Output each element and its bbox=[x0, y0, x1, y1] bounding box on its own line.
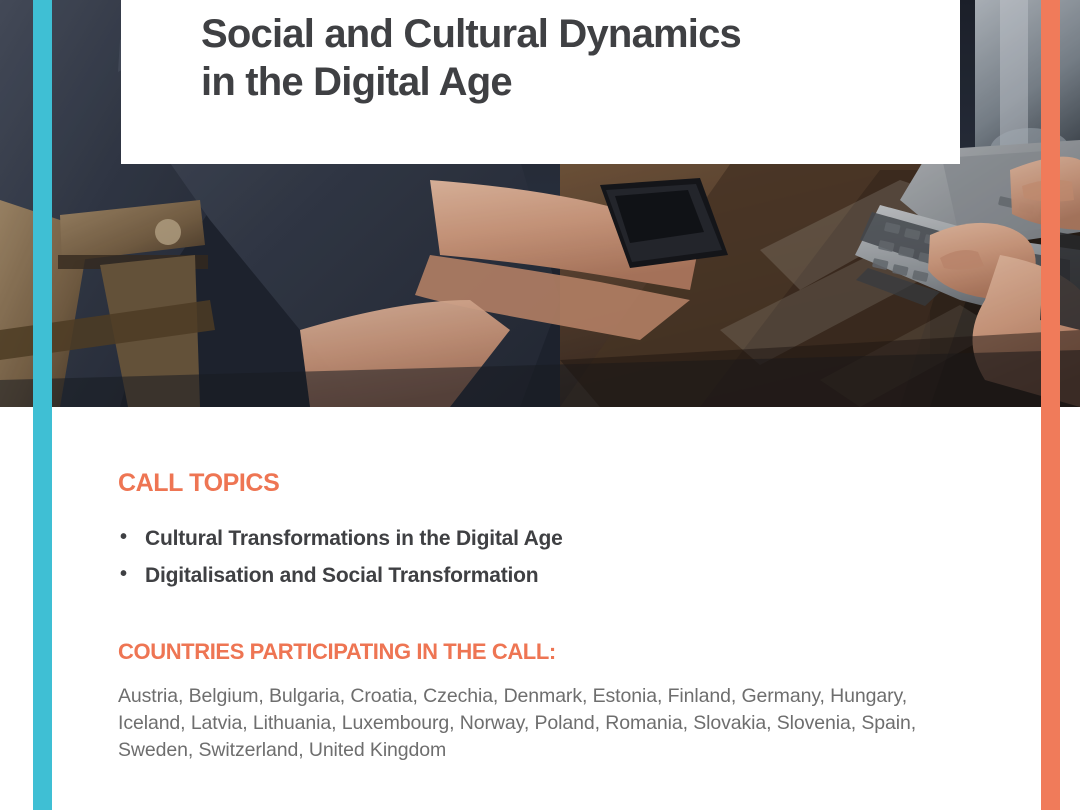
title-card: Social and Cultural Dynamics in the Digi… bbox=[121, 0, 960, 164]
content-area: CALL TOPICS Cultural Transformations in … bbox=[118, 407, 998, 810]
call-topics-heading: CALL TOPICS bbox=[118, 469, 998, 498]
list-item: Cultural Transformations in the Digital … bbox=[118, 520, 998, 557]
poster-page: Social and Cultural Dynamics in the Digi… bbox=[0, 0, 1080, 810]
countries-list: Austria, Belgium, Bulgaria, Croatia, Cze… bbox=[118, 683, 966, 764]
call-topics-list: Cultural Transformations in the Digital … bbox=[118, 520, 998, 594]
right-accent-bar bbox=[1041, 0, 1060, 810]
page-title-line-1: Social and Cultural Dynamics bbox=[201, 12, 741, 56]
left-accent-bar bbox=[33, 0, 52, 810]
page-title: Social and Cultural Dynamics in the Digi… bbox=[201, 10, 920, 106]
list-item: Digitalisation and Social Transformation bbox=[118, 557, 998, 594]
page-title-line-2: in the Digital Age bbox=[201, 60, 512, 104]
countries-heading: COUNTRIES PARTICIPATING IN THE CALL: bbox=[118, 639, 998, 665]
